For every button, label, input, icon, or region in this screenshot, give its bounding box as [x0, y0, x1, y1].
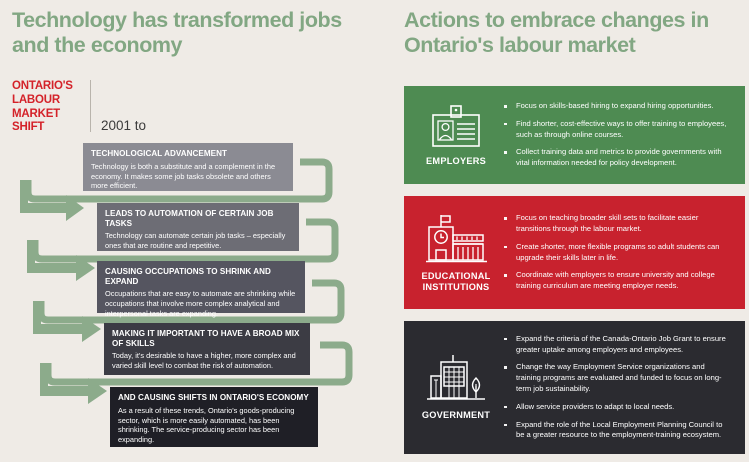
panel-gov-bullets: Expand the criteria of the Canada-Ontari… — [502, 334, 745, 441]
left-column: Technology has transformed jobs and the … — [0, 0, 392, 462]
flow-step-1: TECHNOLOGICAL ADVANCEMENT Technology is … — [83, 143, 293, 191]
flow-step-2-title: LEADS TO AUTOMATION OF CERTAIN JOB TASKS — [105, 209, 291, 228]
flow-step-5: AND CAUSING SHIFTS IN ONTARIO'S ECONOMY … — [110, 387, 318, 447]
flow-step-4-body: Today, it's desirable to have a higher, … — [112, 351, 302, 371]
id-badge-icon — [425, 104, 487, 152]
page-title-right: Actions to embrace changes in Ontario's … — [404, 8, 744, 59]
flow-step-3: CAUSING OCCUPATIONS TO SHRINK AND EXPAND… — [97, 261, 305, 313]
panel-edu-icon-group: EDUCATIONAL INSTITUTIONS — [404, 213, 502, 293]
flow-step-5-title: AND CAUSING SHIFTS IN ONTARIO'S ECONOMY — [118, 393, 310, 403]
brand-line-1: ONTARIO'S — [12, 80, 86, 94]
infographic-root: Technology has transformed jobs and the … — [0, 0, 749, 462]
list-item: Collect training data and metrics to pro… — [502, 147, 731, 169]
panel-employers-caption: EMPLOYERS — [426, 156, 486, 167]
panel-employers: EMPLOYERS Focus on skills-based hiring t… — [404, 86, 745, 184]
list-item: Create shorter, more flexible programs s… — [502, 242, 731, 264]
panel-educational-institutions: EDUCATIONAL INSTITUTIONS Focus on teachi… — [404, 196, 745, 309]
page-title-left: Technology has transformed jobs and the … — [12, 8, 342, 59]
list-item: Change the way Employment Service organi… — [502, 362, 731, 394]
flow-step-3-body: Occupations that are easy to automate ar… — [105, 289, 297, 319]
panel-employers-bullets: Focus on skills-based hiring to expand h… — [502, 101, 745, 169]
panel-government: GOVERNMENT Expand the criteria of the Ca… — [404, 321, 745, 454]
office-building-icon — [423, 354, 489, 406]
brand-line-2: LABOUR — [12, 94, 86, 108]
list-item: Coordinate with employers to ensure univ… — [502, 270, 731, 292]
list-item: Focus on skills-based hiring to expand h… — [502, 101, 731, 112]
brand-name: ONTARIO'S LABOUR MARKET SHIFT — [12, 80, 86, 135]
flow-step-3-title: CAUSING OCCUPATIONS TO SHRINK AND EXPAND — [105, 267, 297, 286]
list-item: Focus on teaching broader skill sets to … — [502, 213, 731, 235]
brand-line-3: MARKET — [12, 108, 86, 122]
brand-divider — [90, 80, 91, 132]
school-building-icon — [421, 213, 491, 267]
panel-edu-bullets: Focus on teaching broader skill sets to … — [502, 213, 745, 292]
panel-employers-icon-group: EMPLOYERS — [404, 104, 502, 167]
list-item: Expand the role of the Local Employment … — [502, 420, 731, 442]
right-column: Actions to embrace changes in Ontario's … — [396, 0, 749, 462]
list-item: Allow service providers to adapt to loca… — [502, 402, 731, 413]
panel-gov-icon-group: GOVERNMENT — [404, 354, 502, 421]
flow-step-4-title: MAKING IT IMPORTANT TO HAVE A BROAD MIX … — [112, 329, 302, 348]
flow-arrowheads — [20, 180, 107, 404]
flow-step-4: MAKING IT IMPORTANT TO HAVE A BROAD MIX … — [104, 323, 310, 375]
flow-step-1-body: Technology is both a substitute and a co… — [91, 162, 285, 192]
flow-step-5-body: As a result of these trends, Ontario's g… — [118, 406, 310, 445]
panel-gov-caption: GOVERNMENT — [422, 410, 490, 421]
list-item: Expand the criteria of the Canada-Ontari… — [502, 334, 731, 356]
flow-step-1-title: TECHNOLOGICAL ADVANCEMENT — [91, 149, 285, 159]
flow-step-2: LEADS TO AUTOMATION OF CERTAIN JOB TASKS… — [97, 203, 299, 251]
list-item: Find shorter, cost-effective ways to off… — [502, 119, 731, 141]
flow-step-2-body: Technology can automate certain job task… — [105, 231, 291, 251]
panel-edu-caption: EDUCATIONAL INSTITUTIONS — [410, 271, 502, 293]
